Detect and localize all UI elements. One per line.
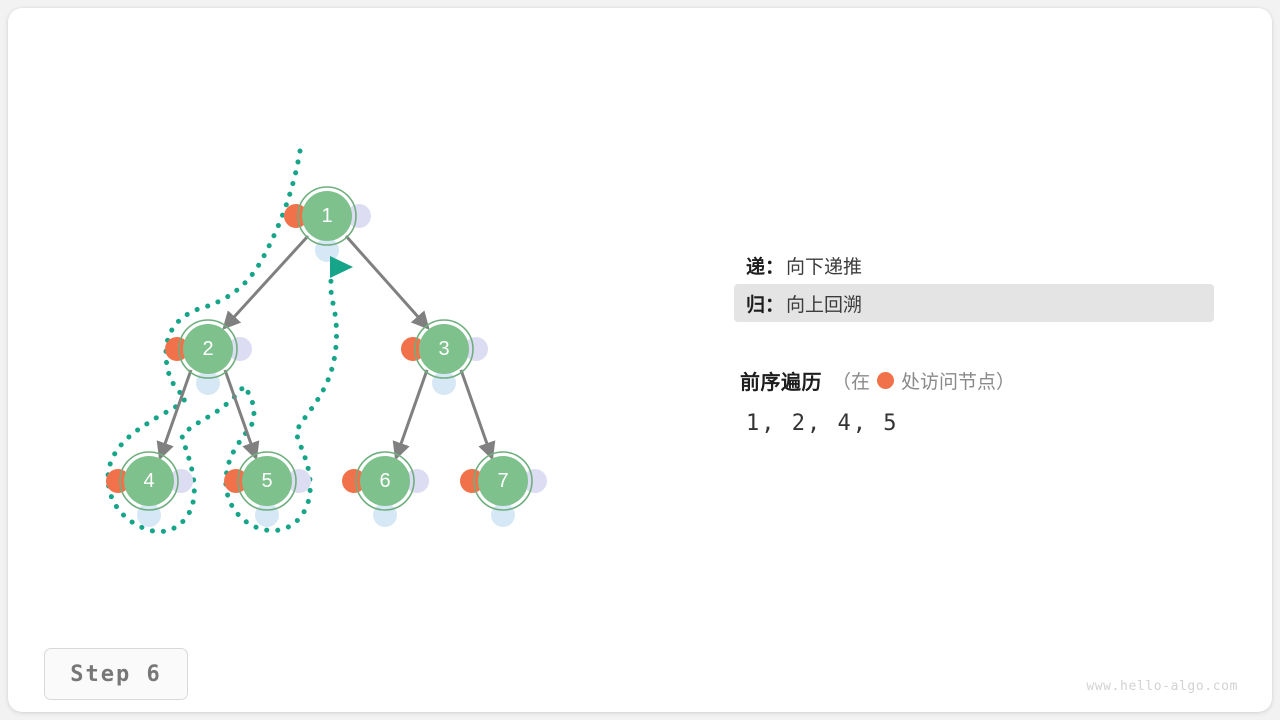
visit-marker-dot-icon	[877, 372, 894, 389]
tree-node-2[interactable]: 2	[165, 320, 252, 395]
node-4-label: 4	[143, 470, 154, 492]
node-2-blue-dot	[196, 371, 220, 395]
tree-node-6[interactable]: 6	[342, 452, 429, 527]
tree-node-4[interactable]: 4	[106, 452, 193, 527]
legend-row-backtrack-value: 向上回溯	[786, 290, 862, 317]
traversal-hint: 处访问节点	[901, 367, 996, 394]
legend-row-recurse: 递： 向下递推	[734, 246, 1214, 284]
node-3-label: 3	[438, 338, 449, 360]
node-2-label: 2	[202, 338, 213, 360]
edge-3-7	[461, 370, 492, 458]
node-4-blue-dot	[137, 503, 161, 527]
traversal-sequence: 1, 2, 4, 5	[734, 411, 1234, 436]
node-1-label: 1	[321, 205, 332, 227]
tree-node-7[interactable]: 7	[460, 452, 547, 527]
step-badge: Step 6	[44, 648, 188, 700]
traversal-paren-close: ）	[996, 367, 1015, 394]
site-watermark: www.hello-algo.com	[1086, 679, 1238, 694]
legend-row-backtrack-key: 归：	[746, 290, 784, 317]
traversal-paren-open: （在	[832, 367, 870, 394]
edge-1-3	[346, 236, 428, 328]
traversal-panel: 前序遍历 （在 处访问节点 ） 1, 2, 4, 5	[734, 366, 1234, 436]
edge-1-2	[224, 236, 308, 328]
node-5-label: 5	[261, 470, 272, 492]
node-6-blue-dot	[373, 503, 397, 527]
tree-node-3[interactable]: 3	[401, 320, 488, 395]
node-6-label: 6	[379, 470, 390, 492]
illustration-card: 1 2 3	[8, 8, 1272, 712]
binary-tree-diagram: 1 2 3	[8, 8, 648, 608]
current-position-arrow-icon	[330, 256, 353, 278]
node-1-blue-dot	[315, 238, 339, 262]
node-3-blue-dot	[432, 371, 456, 395]
edge-3-6	[396, 370, 427, 458]
screenshot-stage: 1 2 3	[0, 0, 1280, 720]
legend-panel: 递： 向下递推 归： 向上回溯	[734, 246, 1214, 322]
edge-2-5	[225, 370, 256, 458]
traversal-title: 前序遍历	[740, 366, 822, 395]
legend-row-recurse-key: 递：	[746, 252, 784, 279]
legend-row-backtrack: 归： 向上回溯	[734, 284, 1214, 322]
node-5-blue-dot	[255, 503, 279, 527]
node-7-blue-dot	[491, 503, 515, 527]
node-7-label: 7	[497, 470, 508, 492]
legend-row-recurse-value: 向下递推	[786, 252, 862, 279]
traversal-title-row: 前序遍历 （在 处访问节点 ）	[734, 366, 1234, 395]
